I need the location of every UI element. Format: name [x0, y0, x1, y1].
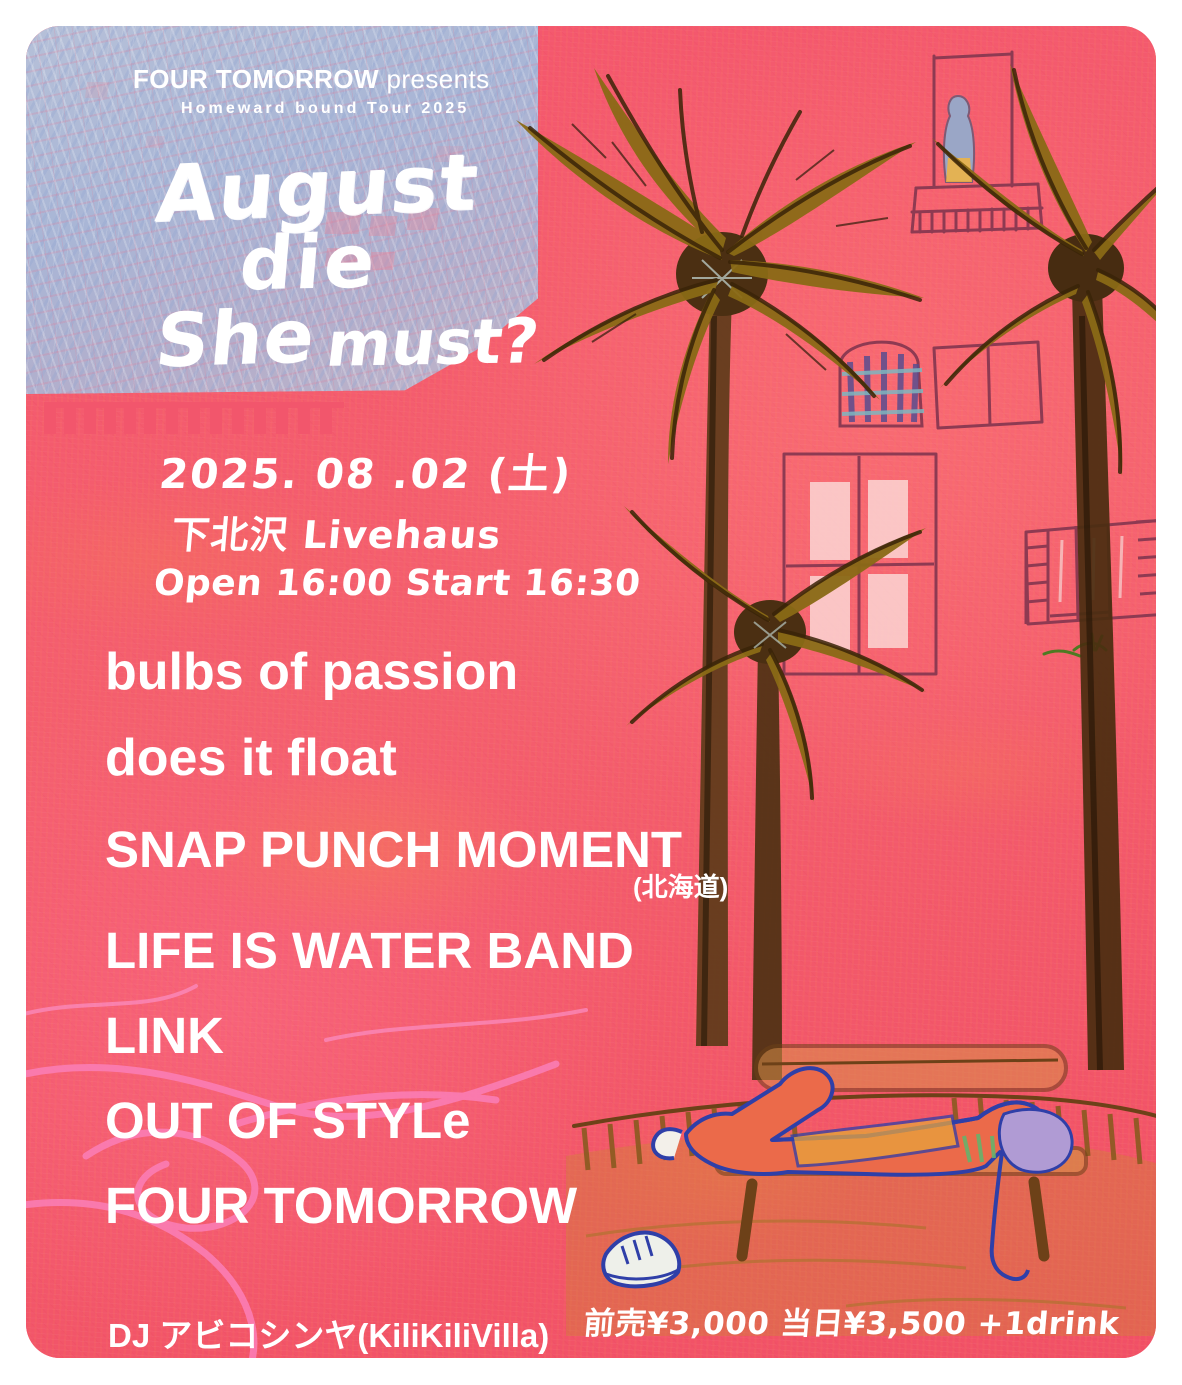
presenter-name: FOUR TOMORROW	[133, 64, 379, 94]
lineup-item: does it float	[105, 732, 805, 784]
event-details: 2025. 08 .02 (土) 下北沢 Livehaus Open 16:00…	[160, 440, 641, 604]
event-venue: 下北沢 Livehaus	[170, 504, 504, 559]
event-times: Open 16:00 Start 16:30	[152, 563, 642, 604]
palm-tree-right	[886, 56, 1156, 1076]
balustrade-railing	[44, 402, 344, 436]
lineup-item: OUT OF STYLe	[105, 1095, 805, 1146]
dj-credit: DJ アビコシンヤ(KiliKiliVilla)	[108, 1309, 549, 1357]
act-name: LINK	[105, 1007, 224, 1064]
title-word-she: She	[152, 293, 319, 384]
poster-canvas: FOUR TOMORROW presents Homeward bound To…	[26, 26, 1156, 1358]
lineup-item: bulbs of passion	[105, 646, 805, 698]
lineup-item: SNAP PUNCH MOMENT (北海道)	[105, 824, 805, 875]
tour-name: Homeward bound Tour 2025	[181, 100, 593, 118]
act-name: FOUR TOMORROW	[105, 1177, 577, 1234]
lineup-list: bulbs of passion does it float SNAP PUNC…	[105, 646, 805, 1231]
price-youth: ( 22歳以下 ¥1,500 )	[582, 1349, 1122, 1358]
presents-word: presents	[379, 64, 490, 94]
act-name: LIFE IS WATER BAND	[105, 922, 634, 979]
title-word-must: must?	[323, 304, 543, 381]
act-name: OUT OF STYLe	[105, 1092, 471, 1149]
lineup-item: LIFE IS WATER BAND	[105, 925, 805, 976]
presenter-line: FOUR TOMORROW presents	[133, 64, 593, 95]
event-date: 2025. 08 .02 (土)	[157, 440, 576, 500]
poster-header: FOUR TOMORROW presents Homeward bound To…	[133, 64, 593, 118]
ticket-pricing: 前売¥3,000 当日¥3,500 +1drink ( 22歳以下 ¥1,500…	[584, 1298, 1120, 1358]
event-title: August die Shemust?	[156, 144, 538, 382]
act-name: bulbs of passion	[105, 643, 518, 701]
lineup-item: FOUR TOMORROW	[105, 1180, 805, 1231]
lineup-item: LINK	[105, 1010, 805, 1061]
price-advance-door: 前売¥3,000 当日¥3,500 +1drink	[582, 1298, 1122, 1343]
act-name: SNAP PUNCH MOMENT	[105, 821, 682, 878]
title-line-3: Shemust?	[156, 306, 538, 382]
act-name: does it float	[105, 729, 397, 787]
act-region-note: (北海道)	[633, 874, 728, 900]
title-line-2: die	[156, 234, 538, 306]
